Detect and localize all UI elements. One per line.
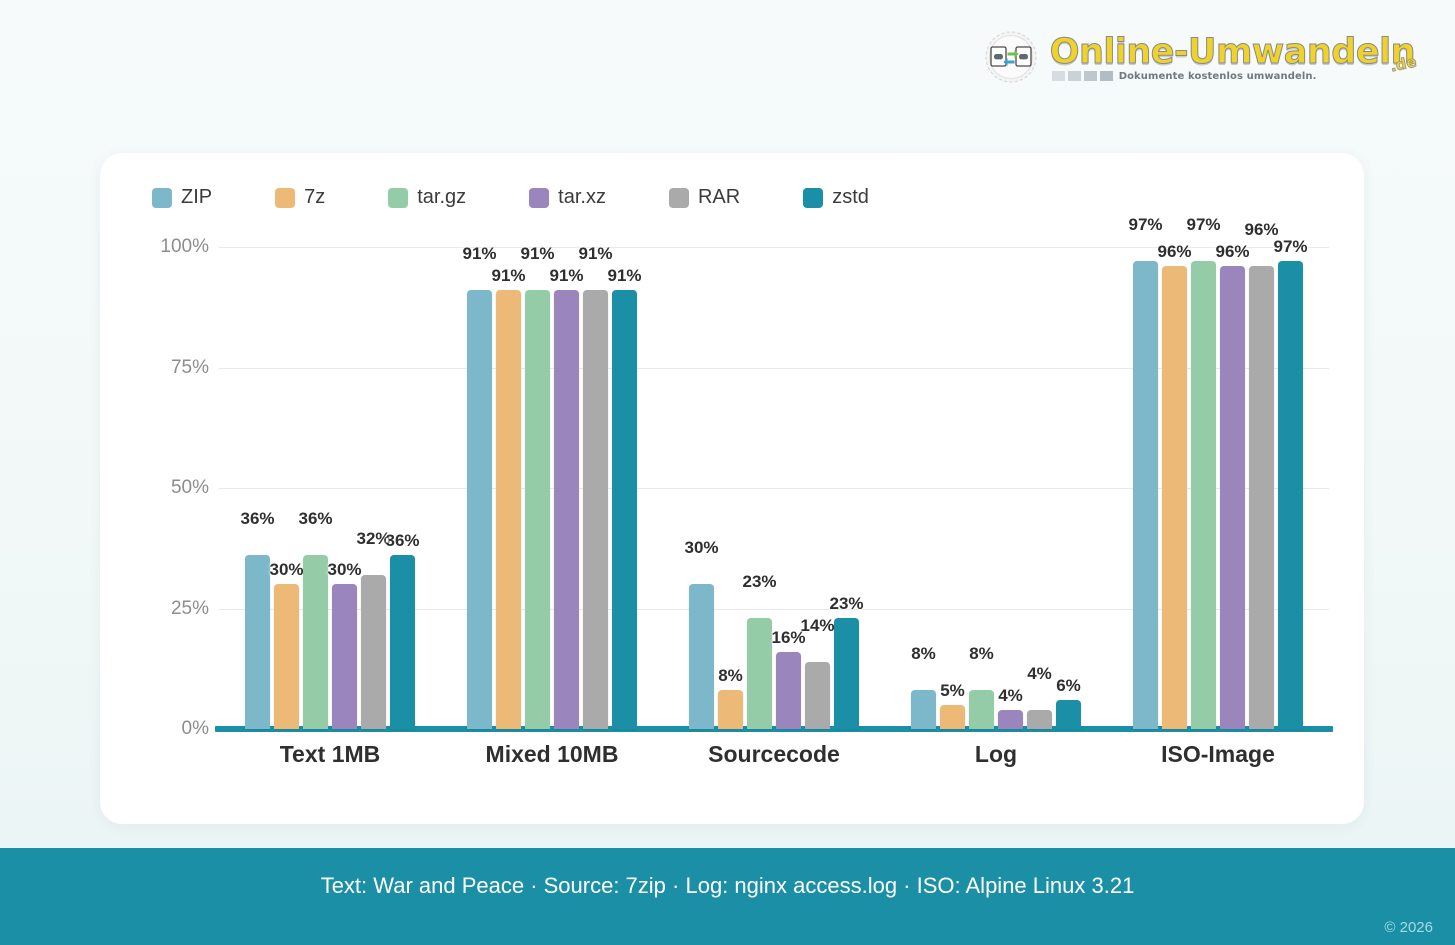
y-axis-tick-label: 0%	[182, 718, 209, 740]
legend-item-rar[interactable]: RAR	[669, 186, 740, 209]
bar[interactable]	[332, 584, 357, 729]
bar-group: 30%8%23%16%14%23%	[663, 247, 885, 729]
legend-swatch-icon	[152, 188, 172, 208]
bar-group: 36%30%36%30%32%36%	[219, 247, 441, 729]
bar[interactable]	[525, 290, 550, 729]
legend-swatch-icon	[275, 188, 295, 208]
bar-slot: 96%	[1249, 247, 1274, 729]
y-axis-tick-label: 100%	[160, 236, 209, 258]
bar-slot: 97%	[1278, 247, 1303, 729]
bar-slot: 6%	[1056, 247, 1081, 729]
bar-slot: 30%	[332, 247, 357, 729]
bar-slot: 91%	[496, 247, 521, 729]
bar[interactable]	[303, 555, 328, 729]
bar-value-label: 97%	[1128, 215, 1162, 235]
legend-swatch-icon	[529, 188, 549, 208]
legend-label: 7z	[304, 186, 325, 209]
bar[interactable]	[612, 290, 637, 729]
bar[interactable]	[1056, 700, 1081, 729]
y-axis-tick-label: 50%	[171, 477, 209, 499]
legend-swatch-icon	[669, 188, 689, 208]
bar[interactable]	[911, 690, 936, 729]
legend-swatch-icon	[388, 188, 408, 208]
bar[interactable]	[776, 652, 801, 729]
legend-label: zstd	[832, 186, 869, 209]
legend-item-tar-xz[interactable]: tar.xz	[529, 186, 606, 209]
bar-slot: 91%	[612, 247, 637, 729]
logo-wordmark: Online-Umwandeln .de Dokumente kostenlos…	[1050, 33, 1415, 82]
bar-slot: 91%	[554, 247, 579, 729]
bar-value-label: 14%	[800, 616, 834, 636]
legend-label: ZIP	[181, 186, 212, 209]
bar-groups: 36%30%36%30%32%36%91%91%91%91%91%91%30%8…	[219, 247, 1329, 729]
x-axis-labels: Text 1MBMixed 10MBSourcecodeLogISO-Image	[219, 741, 1329, 768]
legend-label: RAR	[698, 186, 740, 209]
bar-value-label: 8%	[718, 666, 743, 686]
bar-slot: 36%	[245, 247, 270, 729]
chart-legend: ZIP7ztar.gztar.xzRARzstd	[152, 186, 932, 209]
logo-brand-text: Online-Umwandeln	[1050, 35, 1415, 70]
bar[interactable]	[1162, 266, 1187, 729]
bar[interactable]	[467, 290, 492, 729]
bar-value-label: 91%	[578, 244, 612, 264]
bar[interactable]	[1220, 266, 1245, 729]
y-axis: 0%25%50%75%100%	[157, 247, 219, 729]
bar[interactable]	[969, 690, 994, 729]
bar[interactable]	[1133, 261, 1158, 729]
bar[interactable]	[245, 555, 270, 729]
bar-value-label: 36%	[385, 531, 419, 551]
bar-value-label: 4%	[1027, 664, 1052, 684]
bar-value-label: 8%	[911, 644, 936, 664]
bar-group: 97%96%97%96%96%97%	[1107, 247, 1329, 729]
bar[interactable]	[805, 662, 830, 729]
bar-slot: 4%	[1027, 247, 1052, 729]
bar-slot: 23%	[834, 247, 859, 729]
logo-color-swatches	[1052, 71, 1113, 81]
footer-copyright: © 2026	[1384, 919, 1433, 936]
bar[interactable]	[718, 690, 743, 729]
bar-slot: 8%	[969, 247, 994, 729]
logo-tagline: Dokumente kostenlos umwandeln.	[1119, 71, 1317, 82]
legend-item-tar-gz[interactable]: tar.gz	[388, 186, 466, 209]
legend-item-zstd[interactable]: zstd	[803, 186, 869, 209]
bar-value-label: 5%	[940, 681, 965, 701]
bar-value-label: 23%	[742, 572, 776, 592]
bar-value-label: 6%	[1056, 676, 1081, 696]
bar-slot: 91%	[583, 247, 608, 729]
bar-slot: 96%	[1220, 247, 1245, 729]
legend-label: tar.gz	[417, 186, 466, 209]
bar-value-label: 97%	[1273, 237, 1307, 257]
bar[interactable]	[274, 584, 299, 729]
bar[interactable]	[361, 575, 386, 729]
bar-value-label: 8%	[969, 644, 994, 664]
bar[interactable]	[554, 290, 579, 729]
bar[interactable]	[1191, 261, 1216, 729]
legend-label: tar.xz	[558, 186, 606, 209]
bar-slot: 32%	[361, 247, 386, 729]
site-logo[interactable]: Online-Umwandeln .de Dokumente kostenlos…	[980, 26, 1415, 88]
bar-slot: 91%	[525, 247, 550, 729]
bar-slot: 30%	[689, 247, 714, 729]
bar-slot: 8%	[911, 247, 936, 729]
bar[interactable]	[1027, 710, 1052, 729]
bar[interactable]	[496, 290, 521, 729]
chart-card: ZIP7ztar.gztar.xzRARzstd 0%25%50%75%100%…	[100, 153, 1364, 824]
bar-value-label: 91%	[462, 244, 496, 264]
bar-value-label: 91%	[607, 266, 641, 286]
bar[interactable]	[834, 618, 859, 729]
y-axis-tick-label: 25%	[171, 598, 209, 620]
x-axis-category-label: Sourcecode	[663, 741, 885, 768]
bar-slot: 5%	[940, 247, 965, 729]
bar-slot: 91%	[467, 247, 492, 729]
bar-value-label: 96%	[1157, 242, 1191, 262]
legend-item-zip[interactable]: ZIP	[152, 186, 212, 209]
bar-value-label: 91%	[520, 244, 554, 264]
document-convert-gear-icon	[980, 26, 1042, 88]
x-axis-category-label: Log	[885, 741, 1107, 768]
bar-slot: 97%	[1133, 247, 1158, 729]
bar-value-label: 4%	[998, 686, 1023, 706]
page-footer: Text: War and Peace · Source: 7zip · Log…	[0, 848, 1455, 945]
bar-slot: 36%	[303, 247, 328, 729]
bar-slot: 36%	[390, 247, 415, 729]
bar-slot: 23%	[747, 247, 772, 729]
bar-slot: 30%	[274, 247, 299, 729]
page-header: Online-Umwandeln .de Dokumente kostenlos…	[0, 0, 1455, 125]
bar-value-label: 97%	[1186, 215, 1220, 235]
bar[interactable]	[747, 618, 772, 729]
x-axis-category-label: ISO-Image	[1107, 741, 1329, 768]
x-axis-category-label: Text 1MB	[219, 741, 441, 768]
bar-slot: 4%	[998, 247, 1023, 729]
chart-plot-area: 0%25%50%75%100% 36%30%36%30%32%36%91%91%…	[157, 247, 1329, 729]
bar-value-label: 96%	[1215, 242, 1249, 262]
bar-group: 8%5%8%4%4%6%	[885, 247, 1107, 729]
bar-value-label: 30%	[327, 560, 361, 580]
bar-slot: 14%	[805, 247, 830, 729]
bar[interactable]	[689, 584, 714, 729]
x-axis-category-label: Mixed 10MB	[441, 741, 663, 768]
bar-value-label: 30%	[269, 560, 303, 580]
bar[interactable]	[998, 710, 1023, 729]
legend-item-7z[interactable]: 7z	[275, 186, 325, 209]
bar-value-label: 23%	[829, 594, 863, 614]
bar-slot: 16%	[776, 247, 801, 729]
y-axis-tick-label: 75%	[171, 357, 209, 379]
bar[interactable]	[940, 705, 965, 729]
bar-value-label: 30%	[684, 538, 718, 558]
bar-slot: 8%	[718, 247, 743, 729]
bar-group: 91%91%91%91%91%91%	[441, 247, 663, 729]
bar[interactable]	[390, 555, 415, 729]
bar-value-label: 36%	[240, 509, 274, 529]
legend-swatch-icon	[803, 188, 823, 208]
bar[interactable]	[583, 290, 608, 729]
bar-slot: 97%	[1191, 247, 1216, 729]
bar[interactable]	[1278, 261, 1303, 729]
footer-note: Text: War and Peace · Source: 7zip · Log…	[0, 873, 1455, 899]
bar-value-label: 36%	[298, 509, 332, 529]
bar[interactable]	[1249, 266, 1274, 729]
bar-slot: 96%	[1162, 247, 1187, 729]
bar-value-label: 91%	[549, 266, 583, 286]
bar-value-label: 91%	[491, 266, 525, 286]
